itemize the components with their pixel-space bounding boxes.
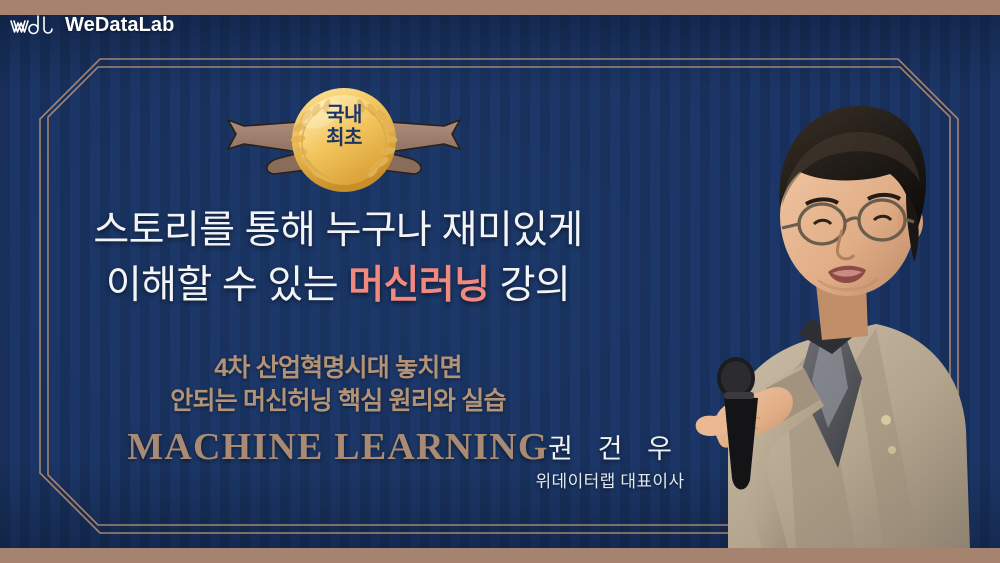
headline-line-2-suffix: 강의 [489, 264, 570, 307]
speaker-credit: 권 건 우 위데이터랩 대표이사 [500, 432, 720, 493]
headline-group: 스토리를 통해 누구나 재미있게 이해할 수 있는 머신러닝 강의 [58, 203, 618, 314]
headline-accent-term: 머신러닝 [348, 264, 489, 307]
poster-canvas: WeDataLab [0, 0, 1000, 563]
badge-graphic [218, 86, 470, 194]
gold-medal-icon [290, 88, 398, 192]
brand-name-label: WeDataLab [65, 15, 174, 35]
headline-line-1: 스토리를 통해 누구나 재미있게 [58, 203, 618, 258]
first-in-korea-badge: 국내 최초 [218, 86, 470, 194]
headline-line-2: 이해할 수 있는 머신러닝 강의 [58, 258, 618, 313]
subtitle-line-2: 안되는 머신허닝 핵심 원리와 실습 [58, 385, 618, 418]
bottom-accent-bar [0, 548, 1000, 563]
headline-line-2-prefix: 이해할 수 있는 [106, 264, 348, 307]
speaker-role: 위데이터랩 대표이사 [500, 471, 720, 493]
speaker-name: 권 건 우 [500, 432, 720, 467]
brand-logo[interactable]: WeDataLab [8, 12, 174, 38]
wdl-monogram-icon [8, 12, 56, 38]
subtitle-line-1: 4차 산업혁명시대 놓치면 [58, 352, 618, 385]
